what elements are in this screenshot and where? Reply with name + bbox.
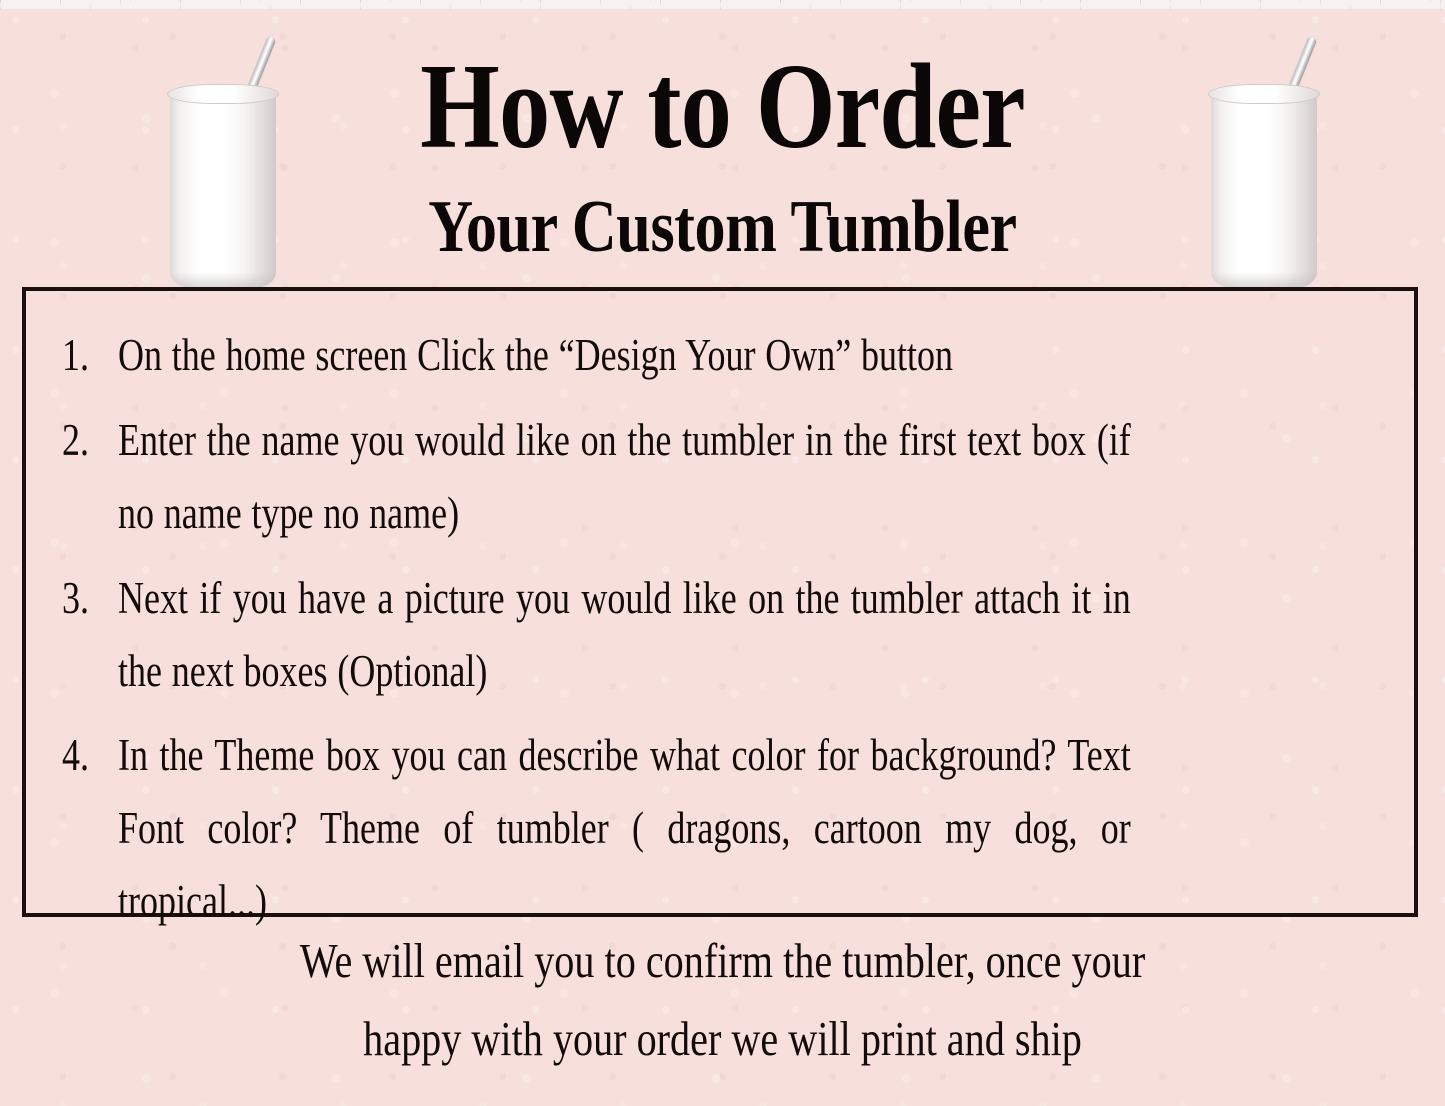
list-item: 3. Next if you have a picture you would … (62, 562, 1384, 708)
instruction-step-list: 1. On the home screen Click the “Design … (26, 291, 1414, 938)
step-number: 3. (62, 562, 107, 635)
step-number: 4. (62, 719, 107, 792)
step-text: On the home screen Click the “Design You… (118, 319, 1131, 392)
marble-strip-decoration (0, 0, 1445, 9)
headline-block: How to Order Your Custom Tumbler (0, 46, 1445, 264)
closing-line-1: We will email you to confirm the tumbler… (163, 922, 1282, 1000)
list-item: 2. Enter the name you would like on the … (62, 404, 1384, 550)
step-text: In the Theme box you can describe what c… (118, 719, 1131, 938)
list-item: 4. In the Theme box you can describe wha… (62, 719, 1384, 938)
closing-line-2: happy with your order we will print and … (163, 1000, 1282, 1078)
page-title: How to Order (116, 46, 1330, 168)
poster-canvas: How to Order Your Custom Tumbler 1. On t… (0, 0, 1445, 1106)
instructions-box: 1. On the home screen Click the “Design … (22, 287, 1418, 917)
step-number: 1. (62, 319, 107, 392)
step-number: 2. (62, 404, 107, 477)
page-subtitle: Your Custom Tumbler (116, 190, 1330, 264)
step-text: Next if you have a picture you would lik… (118, 562, 1131, 708)
list-item: 1. On the home screen Click the “Design … (62, 319, 1384, 392)
step-text: Enter the name you would like on the tum… (118, 404, 1131, 550)
closing-note: We will email you to confirm the tumbler… (40, 922, 1405, 1079)
